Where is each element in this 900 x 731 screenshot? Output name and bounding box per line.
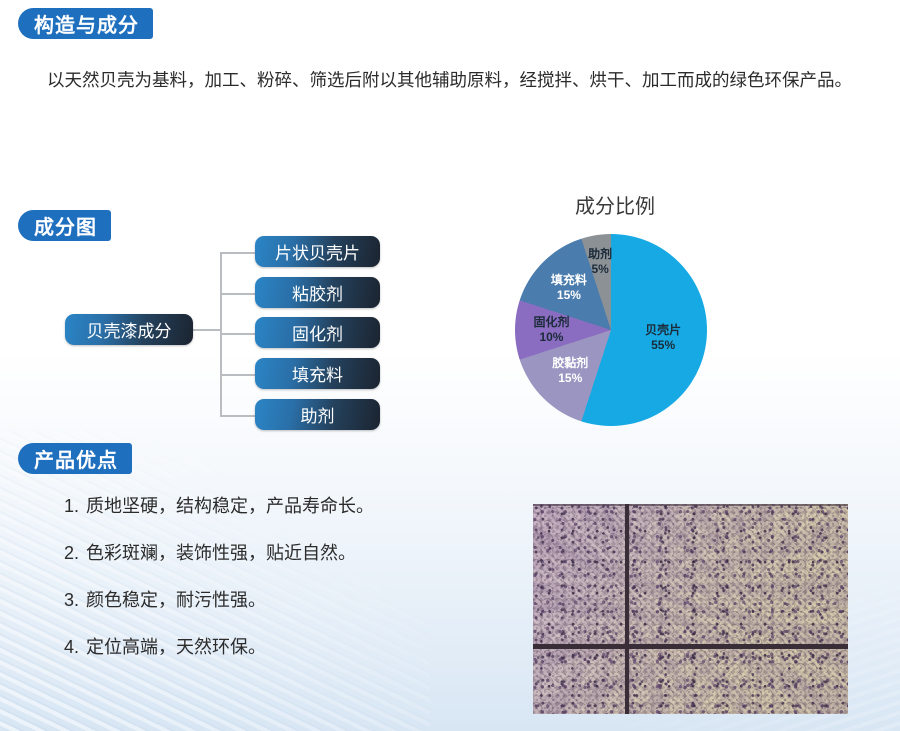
tree-connector-stub bbox=[220, 252, 256, 254]
list-item-text: 色彩斑斓，装饰性强，贴近自然。 bbox=[86, 539, 356, 565]
tree-root-node: 贝壳漆成分 bbox=[65, 314, 193, 345]
intro-paragraph: 以天然贝壳为基料，加工、粉碎、筛选后附以其他辅助原料，经搅拌、烘干、加工而成的绿… bbox=[12, 63, 888, 97]
composition-tree-diagram: 贝壳漆成分 片状贝壳片 粘胶剂 固化剂 填充料 助剂 bbox=[60, 236, 460, 441]
tree-connector-root bbox=[193, 329, 222, 331]
photo-grout-line-horizontal bbox=[533, 644, 848, 649]
list-item-number: 2. bbox=[64, 543, 86, 564]
list-item-text: 定位高端，天然环保。 bbox=[86, 633, 266, 659]
slide-page: 构造与成分 以天然贝壳为基料，加工、粉碎、筛选后附以其他辅助原料，经搅拌、烘干、… bbox=[0, 0, 900, 731]
list-item-number: 1. bbox=[64, 496, 86, 517]
pie-chart-title: 成分比例 bbox=[490, 190, 740, 219]
tree-leaf-node: 片状贝壳片 bbox=[255, 236, 380, 267]
composition-pie-chart: 成分比例 贝壳片55%胶黏剂15%固化剂10%填充料15%助剂5% bbox=[490, 190, 740, 440]
tree-leaf-node: 固化剂 bbox=[255, 317, 380, 348]
tree-connector-stub bbox=[220, 415, 256, 417]
tree-connector-stub bbox=[220, 293, 256, 295]
section-header-structure: 构造与成分 bbox=[18, 8, 153, 39]
section-header-advantages: 产品优点 bbox=[18, 443, 132, 474]
product-photo bbox=[533, 504, 848, 714]
list-item: 1. 质地坚硬，结构稳定，产品寿命长。 bbox=[64, 492, 484, 518]
list-item-text: 质地坚硬，结构稳定，产品寿命长。 bbox=[86, 492, 374, 518]
list-item-number: 3. bbox=[64, 590, 86, 611]
list-item-text: 颜色稳定，耐污性强。 bbox=[86, 586, 266, 612]
tree-leaf-node: 助剂 bbox=[255, 399, 380, 430]
list-item: 2. 色彩斑斓，装饰性强，贴近自然。 bbox=[64, 539, 484, 565]
photo-grout-line-vertical bbox=[625, 504, 629, 714]
tree-connector-stub bbox=[220, 333, 256, 335]
list-item: 4. 定位高端，天然环保。 bbox=[64, 633, 484, 659]
tree-leaf-node: 粘胶剂 bbox=[255, 277, 380, 308]
tree-connector-stub bbox=[220, 374, 256, 376]
photo-edge-top bbox=[533, 504, 848, 506]
list-item-number: 4. bbox=[64, 637, 86, 658]
advantages-list: 1. 质地坚硬，结构稳定，产品寿命长。 2. 色彩斑斓，装饰性强，贴近自然。 3… bbox=[64, 492, 484, 680]
pie-chart-graphic bbox=[515, 234, 707, 426]
list-item: 3. 颜色稳定，耐污性强。 bbox=[64, 586, 484, 612]
photo-texture-grain bbox=[533, 504, 848, 714]
tree-leaf-node: 填充料 bbox=[255, 358, 380, 389]
